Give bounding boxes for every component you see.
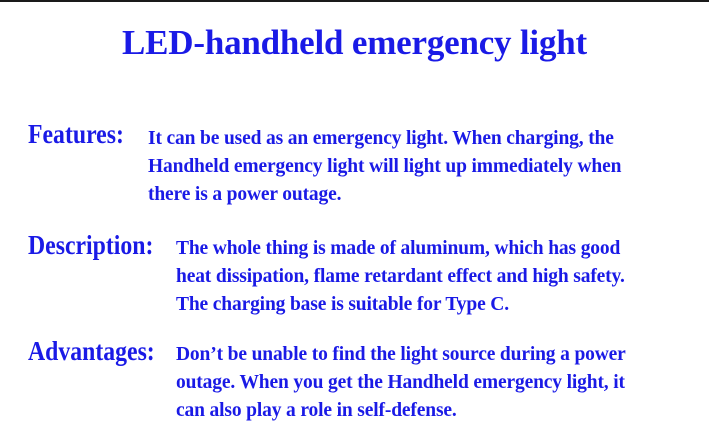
- section-features-line-1: It can be used as an emergency light. Wh…: [148, 125, 621, 153]
- section-advantages-label: Advantages:: [28, 337, 155, 365]
- section-advantages-line-2: outage. When you get the Handheld emerge…: [176, 369, 626, 397]
- section-description-label: Description:: [28, 231, 153, 259]
- section-features-line-2: Handheld emergency light will light up i…: [148, 153, 621, 181]
- section-advantages-body: Don’t be unable to find the light source…: [176, 341, 626, 425]
- top-border-rule: [0, 0, 709, 2]
- section-advantages-line-3: can also play a role in self-defense.: [176, 397, 626, 425]
- section-description-line-3: The charging base is suitable for Type C…: [176, 291, 625, 319]
- section-description-body: The whole thing is made of aluminum, whi…: [176, 235, 625, 319]
- section-description-line-1: The whole thing is made of aluminum, whi…: [176, 235, 625, 263]
- section-advantages-line-1: Don’t be unable to find the light source…: [176, 341, 626, 369]
- slide-canvas: LED-handheld emergency light Features: I…: [0, 0, 709, 429]
- page-title: LED-handheld emergency light: [0, 21, 709, 65]
- section-features-line-3: there is a power outage.: [148, 181, 621, 209]
- section-features-body: It can be used as an emergency light. Wh…: [148, 125, 621, 209]
- section-features-label: Features:: [28, 120, 124, 148]
- section-description-line-2: heat dissipation, flame retardant effect…: [176, 263, 625, 291]
